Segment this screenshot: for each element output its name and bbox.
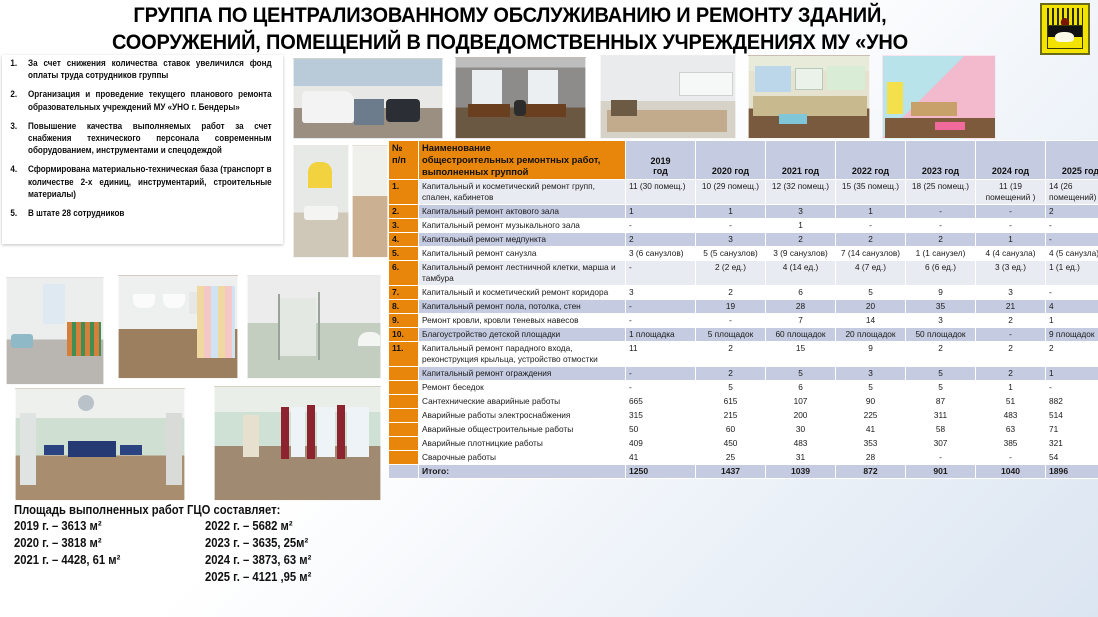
cell-year-2022: 41	[836, 423, 906, 437]
cell-year-2021: 107	[766, 395, 836, 409]
cell-year-2025: 2	[1046, 342, 1098, 367]
cell-year-2021: 1	[766, 219, 836, 233]
cell-year-2021: 5	[766, 367, 836, 381]
table-row: 7.Капитальный и косметический ремонт кор…	[389, 286, 1098, 300]
cell-year-2022: 872	[836, 465, 906, 479]
row-number	[389, 409, 419, 423]
table-row: 5.Капитальный ремонт санузла3 (6 санузло…	[389, 247, 1098, 261]
photo-classroom-tables	[600, 55, 736, 139]
cell-year-2021: 12 (32 помещ.)	[766, 180, 836, 205]
cell-year-2024: 3	[976, 286, 1046, 300]
table-row: 11.Капитальный ремонт парадного входа, р…	[389, 342, 1098, 367]
cell-year-2020: 2	[696, 367, 766, 381]
col-header-year-2025: 2025 год	[1046, 141, 1098, 180]
col-header-year-2021: 2021 год	[766, 141, 836, 180]
cell-year-2024: -	[976, 205, 1046, 219]
row-work-name: Капитальный ремонт ограждения	[419, 367, 626, 381]
list-item: Сформирована материально-техническая баз…	[28, 163, 272, 200]
cell-year-2023: 5	[906, 367, 976, 381]
page-title-line-1: ГРУППА ПО ЦЕНТРАЛИЗОВАННОМУ ОБСЛУЖИВАНИЮ…	[36, 2, 985, 29]
cell-year-2023: 1 (1 санузел)	[906, 247, 976, 261]
cell-year-2024: 483	[976, 409, 1046, 423]
cell-year-2023: 6 (6 ед.)	[906, 261, 976, 286]
cell-year-2020: 215	[696, 409, 766, 423]
cell-year-2022: 20	[836, 300, 906, 314]
photo-playroom-pink-wall	[882, 55, 996, 139]
cell-year-2025: 2	[1046, 205, 1098, 219]
table-header: № п/п Наименование общестроительных ремо…	[389, 141, 1098, 180]
cell-year-2024: 2	[976, 367, 1046, 381]
cell-year-2024: 2	[976, 342, 1046, 367]
cell-year-2025: 9 площадок	[1046, 328, 1098, 342]
area-line: 2020 г. – 3818 м²	[14, 535, 180, 552]
cell-year-2019: -	[626, 381, 696, 395]
cell-year-2024: -	[976, 219, 1046, 233]
cell-year-2022: 7 (14 санузлов)	[836, 247, 906, 261]
list-item: В штате 28 сотрудников	[28, 207, 272, 219]
photo-washroom-two-sinks	[118, 275, 238, 379]
cell-year-2021: 483	[766, 437, 836, 451]
cell-year-2019: -	[626, 219, 696, 233]
row-work-name: Аварийные работы электроснабжения	[419, 409, 626, 423]
row-work-name: Капитальный ремонт медпункта	[419, 233, 626, 247]
cell-year-2023: 18 (25 помещ.)	[906, 180, 976, 205]
cell-year-2022: 353	[836, 437, 906, 451]
cell-year-2025: -	[1046, 286, 1098, 300]
cell-year-2024: 63	[976, 423, 1046, 437]
col-header-number-l2: п/п	[392, 154, 415, 166]
cell-year-2021: 3 (9 санузлов)	[766, 247, 836, 261]
cell-year-2020: -	[696, 219, 766, 233]
table-body: 1.Капитальный и косметический ремонт гру…	[389, 180, 1098, 479]
col-header-year-2024: 2024 год	[976, 141, 1046, 180]
cell-year-2025: 514	[1046, 409, 1098, 423]
table-row: Аварийные работы электроснабжения3152152…	[389, 409, 1098, 423]
cell-year-2024: 3 (3 ед.)	[976, 261, 1046, 286]
cell-year-2025: 71	[1046, 423, 1098, 437]
table-row: 4.Капитальный ремонт медпункта232221-	[389, 233, 1098, 247]
row-number: 7.	[389, 286, 419, 300]
cell-year-2019: 50	[626, 423, 696, 437]
repair-works-table: № п/п Наименование общестроительных ремо…	[388, 140, 1098, 479]
col-header-year-2023: 2023 год	[906, 141, 976, 180]
cell-year-2020: 5 (5 санузлов)	[696, 247, 766, 261]
table-row: 6.Капитальный ремонт лестничной клетки, …	[389, 261, 1098, 286]
cell-year-2025: 1	[1046, 367, 1098, 381]
cell-year-2020: 3	[696, 233, 766, 247]
cell-year-2020: 25	[696, 451, 766, 465]
table-row: 3.Капитальный ремонт музыкального зала--…	[389, 219, 1098, 233]
table-row: Аварийные плотницкие работы4094504833533…	[389, 437, 1098, 451]
row-number: 10.	[389, 328, 419, 342]
row-work-name: Капитальный и косметический ремонт групп…	[419, 180, 626, 205]
cell-year-2020: 10 (29 помещ.)	[696, 180, 766, 205]
row-number: 2.	[389, 205, 419, 219]
cell-year-2022: 3	[836, 367, 906, 381]
row-work-name: Капитальный ремонт парадного входа, реко…	[419, 342, 626, 367]
crest-lion-shield	[1047, 25, 1083, 49]
row-number	[389, 395, 419, 409]
cell-year-2024: 1	[976, 233, 1046, 247]
col-header-name-l1: Наименование	[422, 142, 622, 154]
table-row: Аварийные общестроительные работы5060304…	[389, 423, 1098, 437]
cell-year-2022: 15 (35 помещ.)	[836, 180, 906, 205]
cell-year-2020: 1	[696, 205, 766, 219]
list-item: Повышение качества выполняемых работ за …	[28, 120, 272, 157]
row-number: 6.	[389, 261, 419, 286]
cell-year-2025: -	[1046, 381, 1098, 395]
table-row: Капитальный ремонт ограждения-253521	[389, 367, 1098, 381]
cell-year-2021: 6	[766, 381, 836, 395]
cell-year-2019: -	[626, 367, 696, 381]
row-work-name: Капитальный ремонт музыкального зала	[419, 219, 626, 233]
crest-top-ornament	[1047, 8, 1083, 26]
cell-year-2024: -	[976, 451, 1046, 465]
cell-year-2025: 1896	[1046, 465, 1098, 479]
cell-year-2019: 3 (6 санузлов)	[626, 247, 696, 261]
cell-year-2021: 30	[766, 423, 836, 437]
photo-assembly-hall-chairs	[15, 388, 185, 501]
cell-year-2023: 2	[906, 233, 976, 247]
page-title: ГРУППА ПО ЦЕНТРАЛИЗОВАННОМУ ОБСЛУЖИВАНИЮ…	[0, 2, 1020, 56]
row-work-name: Итого:	[419, 465, 626, 479]
row-number: 3.	[389, 219, 419, 233]
cell-year-2025: 1	[1046, 314, 1098, 328]
cell-year-2021: 28	[766, 300, 836, 314]
cell-year-2025: 882	[1046, 395, 1098, 409]
area-line: 2022 г. – 5682 м²	[205, 518, 371, 535]
cell-year-2025: -	[1046, 233, 1098, 247]
cell-year-2021: 6	[766, 286, 836, 300]
year-2019-l2: год	[629, 166, 692, 176]
area-line: 2023 г. – 3635, 25м²	[205, 535, 371, 552]
photo-washroom-sink-room	[6, 277, 104, 385]
cell-year-2023: 9	[906, 286, 976, 300]
col-header-year-2020: 2020 год	[696, 141, 766, 180]
cell-year-2019: 409	[626, 437, 696, 451]
cell-year-2020: 2 (2 ед.)	[696, 261, 766, 286]
cell-year-2021: 2	[766, 233, 836, 247]
row-work-name: Капитальный ремонт пола, потолка, стен	[419, 300, 626, 314]
cell-year-2021: 7	[766, 314, 836, 328]
cell-year-2019: 11 (30 помещ.)	[626, 180, 696, 205]
area-line: 2021 г. – 4428, 61 м²	[14, 552, 180, 569]
area-line: 2024 г. – 3873, 63 м²	[205, 552, 371, 569]
area-line: 2025 г. – 4121 ,95 м²	[205, 569, 371, 586]
table-row: Ремонт беседок-56551-	[389, 381, 1098, 395]
cell-year-2023: -	[906, 451, 976, 465]
area-line: 2019 г. – 3613 м²	[14, 518, 180, 535]
cell-year-2024: 4 (4 санузла)	[976, 247, 1046, 261]
key-points-list: За счет снижения количества ставок увели…	[2, 57, 277, 219]
cell-year-2022: 225	[836, 409, 906, 423]
cell-year-2019: 41	[626, 451, 696, 465]
area-summary-right-column: 2022 г. – 5682 м² 2023 г. – 3635, 25м² 2…	[199, 518, 390, 586]
area-summary: Площадь выполненных работ ГЦО составляет…	[14, 503, 389, 586]
cell-year-2019: 3	[626, 286, 696, 300]
col-header-year-2022: 2022 год	[836, 141, 906, 180]
row-work-name: Аварийные плотницкие работы	[419, 437, 626, 451]
cell-year-2019: 665	[626, 395, 696, 409]
cell-year-2020: 5	[696, 381, 766, 395]
row-number: 9.	[389, 314, 419, 328]
cell-year-2022: 28	[836, 451, 906, 465]
row-number	[389, 381, 419, 395]
cell-year-2020: 450	[696, 437, 766, 451]
coat-of-arms-icon	[1040, 3, 1090, 55]
list-item: Организация и проведение текущего планов…	[28, 88, 272, 112]
area-summary-left-column: 2019 г. – 3613 м² 2020 г. – 3818 м² 2021…	[14, 518, 199, 586]
cell-year-2025: 14 (26 помещений)	[1046, 180, 1098, 205]
cell-year-2023: 311	[906, 409, 976, 423]
cell-year-2024: 11 (19 помещений )	[976, 180, 1046, 205]
cell-year-2025: 4 (5 санузла)	[1046, 247, 1098, 261]
area-summary-title: Площадь выполненных работ ГЦО составляет…	[14, 503, 352, 517]
cell-year-2021: 4 (14 ед.)	[766, 261, 836, 286]
row-work-name: Благоустройство детской площадки	[419, 328, 626, 342]
cell-year-2021: 60 площадок	[766, 328, 836, 342]
row-number	[389, 465, 419, 479]
cell-year-2020: -	[696, 314, 766, 328]
cell-year-2025: 1 (1 ед.)	[1046, 261, 1098, 286]
photo-bathroom-stalls	[247, 275, 381, 379]
cell-year-2019: -	[626, 261, 696, 286]
cell-year-2022: 9	[836, 342, 906, 367]
photo-corridor-wood-panel	[352, 145, 388, 258]
cell-year-2025: 321	[1046, 437, 1098, 451]
cell-year-2021: 31	[766, 451, 836, 465]
row-work-name: Сварочные работы	[419, 451, 626, 465]
row-number: 8.	[389, 300, 419, 314]
col-header-name-l2: общестроительных ремонтных работ,	[422, 154, 622, 166]
col-header-name-l3: выполненных группой	[422, 166, 622, 178]
cell-year-2023: 87	[906, 395, 976, 409]
row-work-name: Капитальный ремонт актового зала	[419, 205, 626, 219]
row-number	[389, 437, 419, 451]
cell-year-2022: -	[836, 219, 906, 233]
col-header-number: № п/п	[389, 141, 419, 180]
key-points-card: За счет снижения количества ставок увели…	[2, 55, 283, 244]
cell-year-2019: 1 площадка	[626, 328, 696, 342]
row-number: 11.	[389, 342, 419, 367]
row-work-name: Аварийные общестроительные работы	[419, 423, 626, 437]
cell-year-2022: 5	[836, 286, 906, 300]
cell-year-2020: 2	[696, 342, 766, 367]
cell-year-2024: 2	[976, 314, 1046, 328]
cell-year-2022: 5	[836, 381, 906, 395]
cell-year-2024: 1040	[976, 465, 1046, 479]
cell-year-2024: 51	[976, 395, 1046, 409]
col-header-year-2019: 2019 год	[626, 141, 696, 180]
cell-year-2023: 901	[906, 465, 976, 479]
cell-year-2024: 385	[976, 437, 1046, 451]
cell-year-2023: 307	[906, 437, 976, 451]
col-header-name: Наименование общестроительных ремонтных …	[419, 141, 626, 180]
cell-year-2019: 1250	[626, 465, 696, 479]
cell-year-2023: -	[906, 205, 976, 219]
table-row: 8.Капитальный ремонт пола, потолка, стен…	[389, 300, 1098, 314]
table-row: Сварочные работы41253128--54	[389, 451, 1098, 465]
table-row: 2.Капитальный ремонт актового зала1131--…	[389, 205, 1098, 219]
cell-year-2021: 15	[766, 342, 836, 367]
row-number: 4.	[389, 233, 419, 247]
year-2019-l1: 2019	[629, 156, 692, 166]
cell-year-2020: 19	[696, 300, 766, 314]
list-item: За счет снижения количества ставок увели…	[28, 57, 272, 81]
row-work-name: Ремонт беседок	[419, 381, 626, 395]
cell-year-2025: -	[1046, 219, 1098, 233]
cell-year-2021: 3	[766, 205, 836, 219]
row-work-name: Капитальный ремонт лестничной клетки, ма…	[419, 261, 626, 286]
cell-year-2022: 90	[836, 395, 906, 409]
row-work-name: Капитальный и косметический ремонт корид…	[419, 286, 626, 300]
cell-year-2024: 21	[976, 300, 1046, 314]
repair-works-table-container: № п/п Наименование общестроительных ремо…	[388, 140, 1098, 479]
row-work-name: Капитальный ремонт санузла	[419, 247, 626, 261]
cell-year-2020: 60	[696, 423, 766, 437]
cell-year-2020: 615	[696, 395, 766, 409]
table-row: 1.Капитальный и косметический ремонт гру…	[389, 180, 1098, 205]
cell-year-2023: 58	[906, 423, 976, 437]
photo-minibus-staff-exterior	[293, 58, 443, 139]
cell-year-2020: 1437	[696, 465, 766, 479]
photo-office-windows	[455, 57, 586, 139]
page-title-line-2: СООРУЖЕНИЙ, ПОМЕЩЕНИЙ В ПОДВЕДОМСТВЕННЫХ…	[36, 29, 985, 56]
cell-year-2020: 2	[696, 286, 766, 300]
cell-year-2019: 315	[626, 409, 696, 423]
cell-year-2025: 54	[1046, 451, 1098, 465]
cell-year-2023: 35	[906, 300, 976, 314]
photo-washroom-sink	[293, 145, 349, 258]
cell-year-2021: 200	[766, 409, 836, 423]
cell-year-2022: 2	[836, 233, 906, 247]
cell-year-2022: 1	[836, 205, 906, 219]
col-header-number-l1: №	[392, 142, 415, 154]
table-row: Итого:12501437103987290110401896	[389, 465, 1098, 479]
cell-year-2021: 1039	[766, 465, 836, 479]
cell-year-2023: 50 площадок	[906, 328, 976, 342]
cell-year-2023: 5	[906, 381, 976, 395]
table-row: 10.Благоустройство детской площадки1 пло…	[389, 328, 1098, 342]
cell-year-2019: 11	[626, 342, 696, 367]
row-number: 5.	[389, 247, 419, 261]
table-row: 9.Ремонт кровли, кровли теневых навесов-…	[389, 314, 1098, 328]
table-header-row: № п/п Наименование общестроительных ремо…	[389, 141, 1098, 180]
cell-year-2024: -	[976, 328, 1046, 342]
table-row: Сантехнические аварийные работы665615107…	[389, 395, 1098, 409]
cell-year-2019: 2	[626, 233, 696, 247]
row-number: 1.	[389, 180, 419, 205]
row-work-name: Ремонт кровли, кровли теневых навесов	[419, 314, 626, 328]
cell-year-2019: -	[626, 314, 696, 328]
row-number	[389, 451, 419, 465]
cell-year-2023: 2	[906, 342, 976, 367]
row-number	[389, 423, 419, 437]
cell-year-2023: -	[906, 219, 976, 233]
cell-year-2024: 1	[976, 381, 1046, 395]
row-number	[389, 367, 419, 381]
cell-year-2019: 1	[626, 205, 696, 219]
cell-year-2020: 5 площадок	[696, 328, 766, 342]
cell-year-2019: -	[626, 300, 696, 314]
cell-year-2022: 4 (7 ед.)	[836, 261, 906, 286]
photo-hall-red-curtains	[214, 386, 381, 501]
cell-year-2023: 3	[906, 314, 976, 328]
cell-year-2022: 20 площадок	[836, 328, 906, 342]
cell-year-2022: 14	[836, 314, 906, 328]
photo-kitchen-cabinets	[748, 55, 870, 139]
cell-year-2025: 4	[1046, 300, 1098, 314]
row-work-name: Сантехнические аварийные работы	[419, 395, 626, 409]
